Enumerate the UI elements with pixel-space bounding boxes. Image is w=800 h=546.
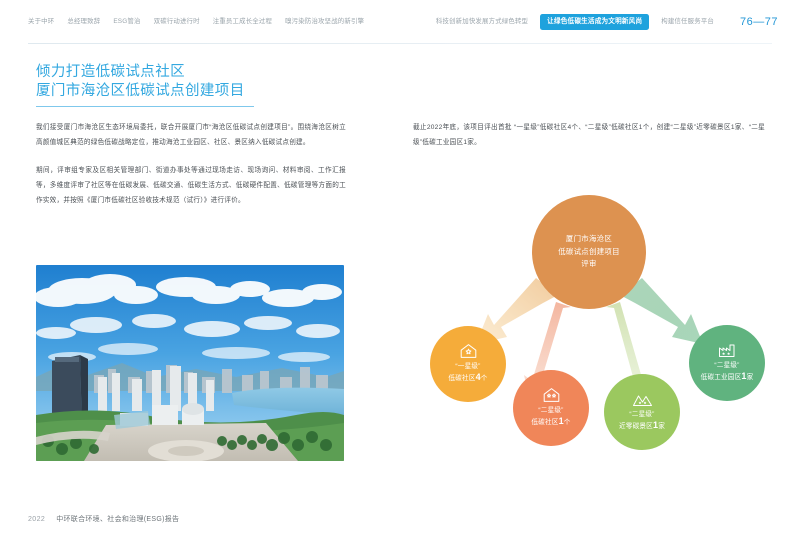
right-column: 截止2022年底，该项目评出首批 “一星级”低碳社区4个、“二星级”低碳社区1个… <box>413 120 765 150</box>
node-value-4: 低碳工业园区1家 <box>701 371 754 384</box>
footer-report-title: 中环联合环境、社会和治理(ESG)报告 <box>56 514 179 524</box>
diagram-center-node: 厦门市海沧区 低碳试点创建项目 评审 <box>532 195 646 309</box>
header-nav-right: 科技创新加快发展方式绿色转型 让绿色低碳生活成为文明新风尚 构建信任服务平台 7… <box>436 14 778 30</box>
house-star-icon <box>459 343 478 359</box>
nav-item-green-transition[interactable]: 科技创新加快发展方式绿色转型 <box>436 19 528 25</box>
node-level-1: “一星级” <box>455 362 480 372</box>
body-paragraph-2: 期间，评审组专家及区相关管理部门、街道办事处等通过现场走访、现场询问、材料审阅、… <box>36 163 346 208</box>
report-page: 关于中环 总经理致辞 ESG管治 双碳行动进行时 注重员工成长全过程 嗅污染防治… <box>0 0 800 546</box>
nav-item-esg-governance[interactable]: ESG管治 <box>113 19 140 25</box>
page-footer: 2022 中环联合环境、社会和治理(ESG)报告 <box>28 514 179 524</box>
node-unit-2: 个 <box>564 419 571 426</box>
page-title-line2: 厦门市海沧区低碳试点创建项目 <box>36 82 346 101</box>
node-value-3: 近零碳景区1家 <box>619 420 665 433</box>
node-level-4: “二星级” <box>714 361 739 371</box>
diagram-node-low-carbon-community-2star: “二星级” 低碳社区1个 <box>513 370 589 446</box>
node-level-2: “二星级” <box>538 406 563 416</box>
header-nav-left: 关于中环 总经理致辞 ESG管治 双碳行动进行时 注重员工成长全过程 嗅污染防治… <box>28 19 364 25</box>
nav-item-ceo-message[interactable]: 总经理致辞 <box>67 19 100 25</box>
diagram-node-low-carbon-community-1star: “一星级” 低碳社区4个 <box>430 326 506 402</box>
house-two-star-icon <box>542 387 561 403</box>
node-unit-4: 家 <box>747 374 754 381</box>
cityscape-photo <box>36 265 344 461</box>
diagram-node-low-carbon-industrial-park: “二星级” 低碳工业园区1家 <box>689 325 765 401</box>
mountain-two-star-icon <box>632 392 653 407</box>
center-label-line1: 厦门市海沧区 <box>566 233 612 246</box>
node-label-1: 低碳社区 <box>448 375 475 382</box>
node-value-1: 低碳社区4个 <box>448 372 487 385</box>
body-paragraph-1: 我们接受厦门市海沧区生态环境局委托，联合开展厦门市“海沧区低碳试点创建项目”。围… <box>36 120 346 150</box>
nav-item-dual-carbon[interactable]: 双碳行动进行时 <box>154 19 200 25</box>
evaluation-results-diagram: 厦门市海沧区 低碳试点创建项目 评审 “一星级” 低碳社区4个 <box>408 185 780 470</box>
nav-item-employee-growth[interactable]: 注重员工成长全过程 <box>213 19 272 25</box>
page-title-line1: 倾力打造低碳试点社区 <box>36 63 346 82</box>
nav-item-low-carbon-life[interactable]: 让绿色低碳生活成为文明新风尚 <box>540 14 649 30</box>
title-underline <box>36 106 254 107</box>
header-divider <box>28 43 772 44</box>
node-level-3: “二星级” <box>629 410 654 420</box>
nav-item-pollution-control[interactable]: 嗅污染防治攻坚战的新引擎 <box>285 19 364 25</box>
results-summary: 截止2022年底，该项目评出首批 “一星级”低碳社区4个、“二星级”低碳社区1个… <box>413 120 765 150</box>
page-number: 76—77 <box>740 16 778 28</box>
node-unit-1: 个 <box>481 375 488 382</box>
nav-item-about[interactable]: 关于中环 <box>28 19 54 25</box>
nav-item-trust-platform[interactable]: 构建信任服务平台 <box>661 19 714 25</box>
node-label-4: 低碳工业园区 <box>701 374 742 381</box>
node-value-2: 低碳社区1个 <box>531 416 570 429</box>
page-title: 倾力打造低碳试点社区 厦门市海沧区低碳试点创建项目 <box>36 63 346 107</box>
diagram-node-near-zero-carbon-scenic: “二星级” 近零碳景区1家 <box>604 374 680 450</box>
page-header: 关于中环 总经理致辞 ESG管治 双碳行动进行时 注重员工成长全过程 嗅污染防治… <box>0 0 800 44</box>
node-label-2: 低碳社区 <box>531 419 558 426</box>
left-column: 倾力打造低碳试点社区 厦门市海沧区低碳试点创建项目 我们接受厦门市海沧区生态环境… <box>36 63 346 208</box>
node-unit-3: 家 <box>658 423 665 430</box>
footer-year: 2022 <box>28 516 45 523</box>
factory-two-star-icon <box>717 342 737 358</box>
center-label-line3: 评审 <box>581 258 596 271</box>
center-label-line2: 低碳试点创建项目 <box>558 246 620 259</box>
node-label-3: 近零碳景区 <box>619 423 653 430</box>
